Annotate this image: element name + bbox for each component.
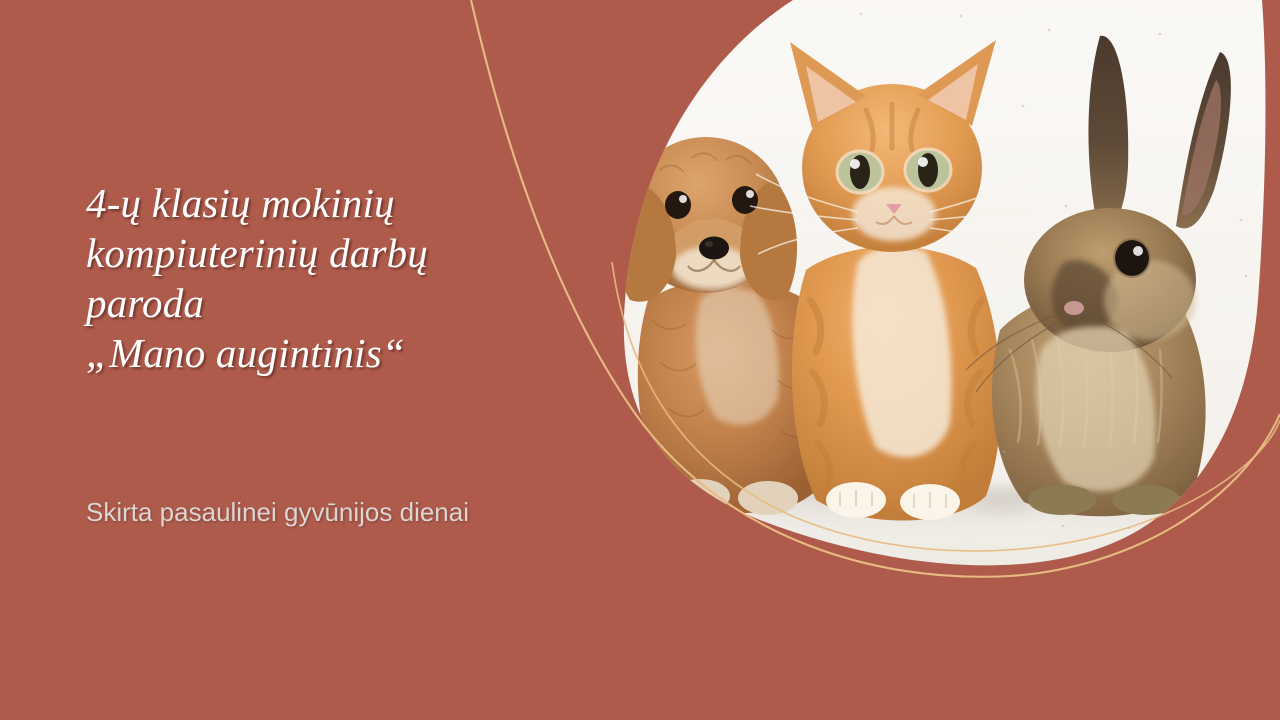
presentation-slide: 4-ų klasių mokinių kompiuterinių darbų p…	[0, 0, 1280, 720]
slide-subtitle: Skirta pasaulinei gyvūnijos dienai	[86, 489, 506, 535]
page-title: 4-ų klasių mokinių kompiuterinių darbų p…	[86, 178, 556, 378]
title-container: 4-ų klasių mokinių kompiuterinių darbų p…	[86, 178, 556, 378]
